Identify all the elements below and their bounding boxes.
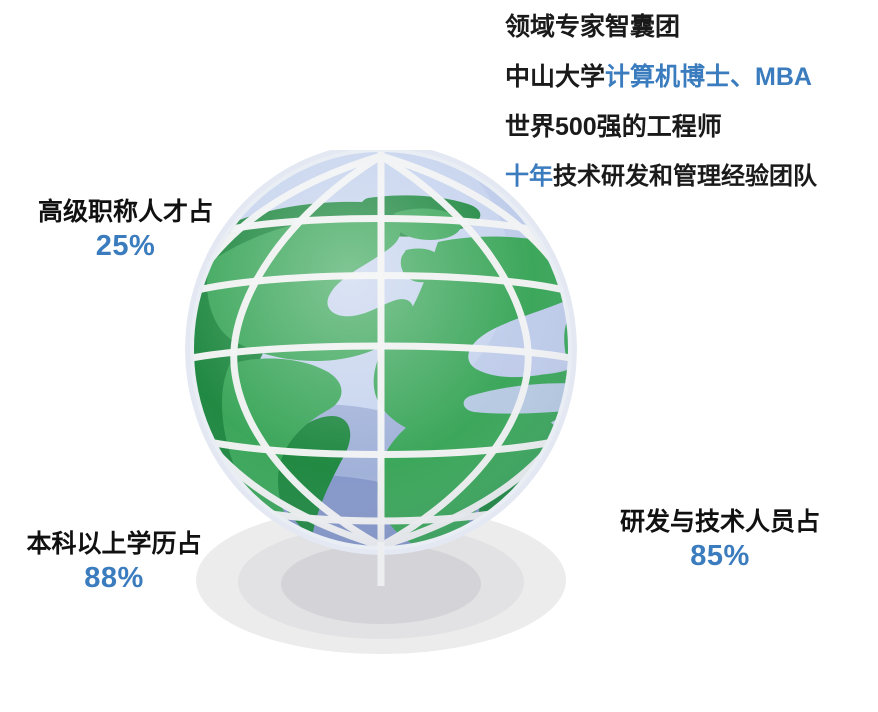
callout-senior-talent-value: 25% xyxy=(8,228,243,264)
headline-block: 领域专家智囊团 中山大学计算机博士、MBA 世界500强的工程师 十年技术研发和… xyxy=(505,2,878,202)
callout-degree-ratio-title: 本科以上学历占 xyxy=(0,528,228,560)
callout-rnd-staff: 研发与技术人员占 85% xyxy=(570,506,870,574)
infographic-canvas: 领域专家智囊团 中山大学计算机博士、MBA 世界500强的工程师 十年技术研发和… xyxy=(0,0,878,712)
headline-line-1: 领域专家智囊团 xyxy=(505,2,878,52)
headline-line-1-text: 领域专家智囊团 xyxy=(505,13,680,41)
callout-degree-ratio-value: 88% xyxy=(0,560,228,596)
callout-degree-ratio: 本科以上学历占 88% xyxy=(0,528,228,596)
headline-line-3-text: 世界500强的工程师 xyxy=(505,113,722,141)
callout-senior-talent: 高级职称人才占 25% xyxy=(8,196,243,264)
callout-rnd-staff-title: 研发与技术人员占 xyxy=(570,506,870,538)
callout-rnd-staff-value: 85% xyxy=(570,538,870,574)
headline-line-4-accent: 十年 xyxy=(505,163,553,190)
callout-senior-talent-title: 高级职称人才占 xyxy=(8,196,243,228)
headline-line-4: 十年技术研发和管理经验团队 xyxy=(505,152,878,202)
headline-line-2-plain: 中山大学 xyxy=(505,63,605,91)
headline-line-4-plain: 技术研发和管理经验团队 xyxy=(553,163,817,190)
headline-line-2-accent: 计算机博士、MBA xyxy=(605,63,812,91)
headline-line-3: 世界500强的工程师 xyxy=(505,102,878,152)
headline-line-2: 中山大学计算机博士、MBA xyxy=(505,52,878,102)
